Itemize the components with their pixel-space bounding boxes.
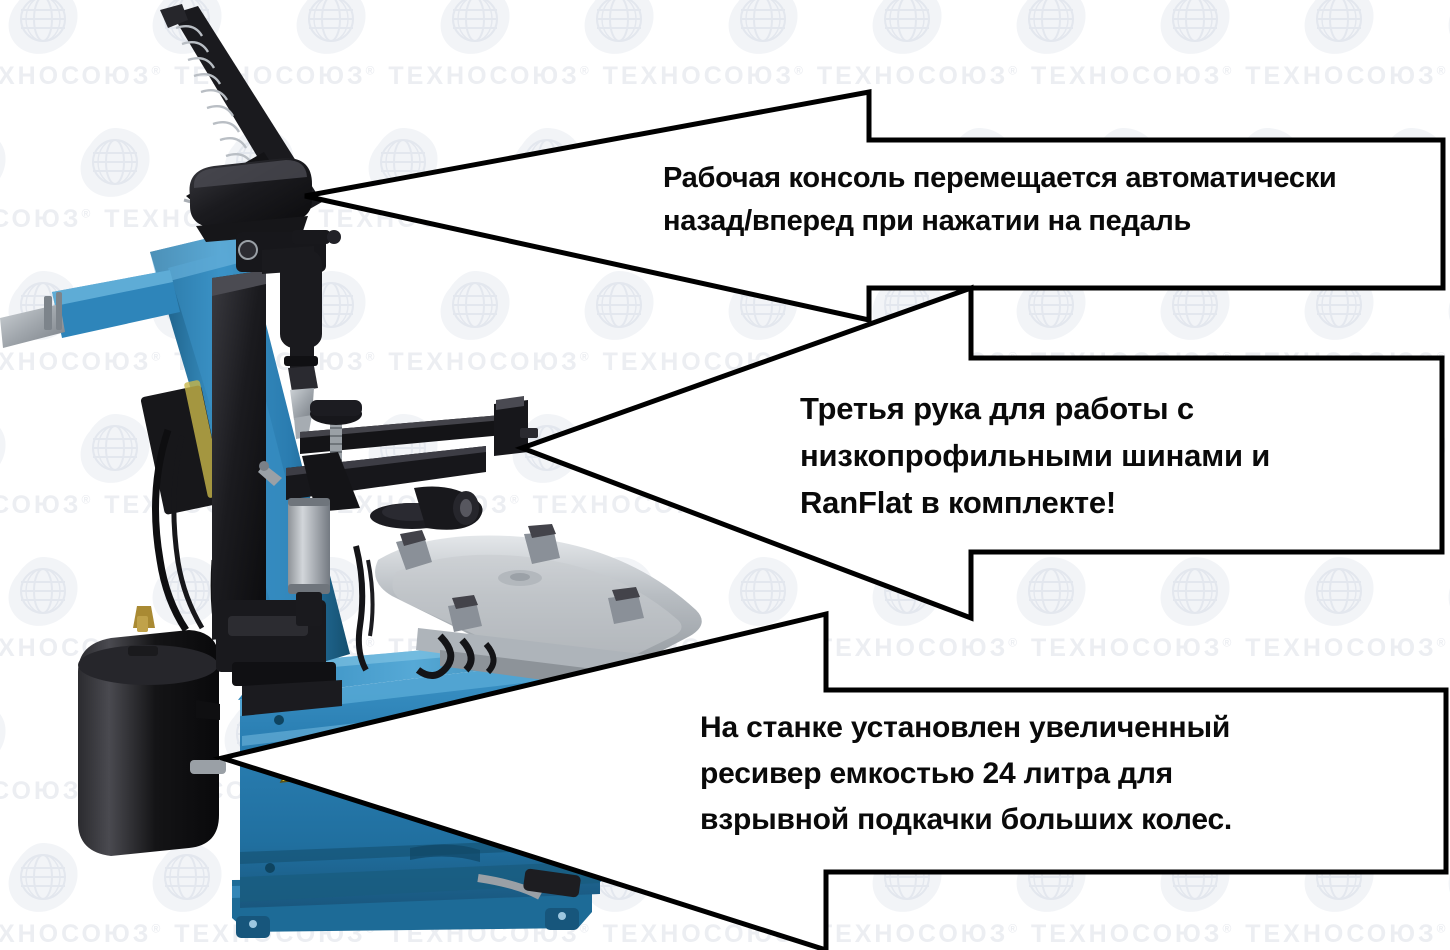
callout-working-console-text: Рабочая консоль перемещается автоматичес… [663, 157, 1433, 243]
product-illustration: ТЕХНОСОЮЗ® ТЕХНОСОЮЗ® ТЕХНОСОЮЗ® ТЕХНОСО… [0, 0, 1450, 950]
callout-third-arm-text: Третья рука для работы с низкопрофильным… [800, 385, 1440, 526]
callout-air-receiver-text: На станке установлен увеличенный ресивер… [700, 705, 1360, 843]
